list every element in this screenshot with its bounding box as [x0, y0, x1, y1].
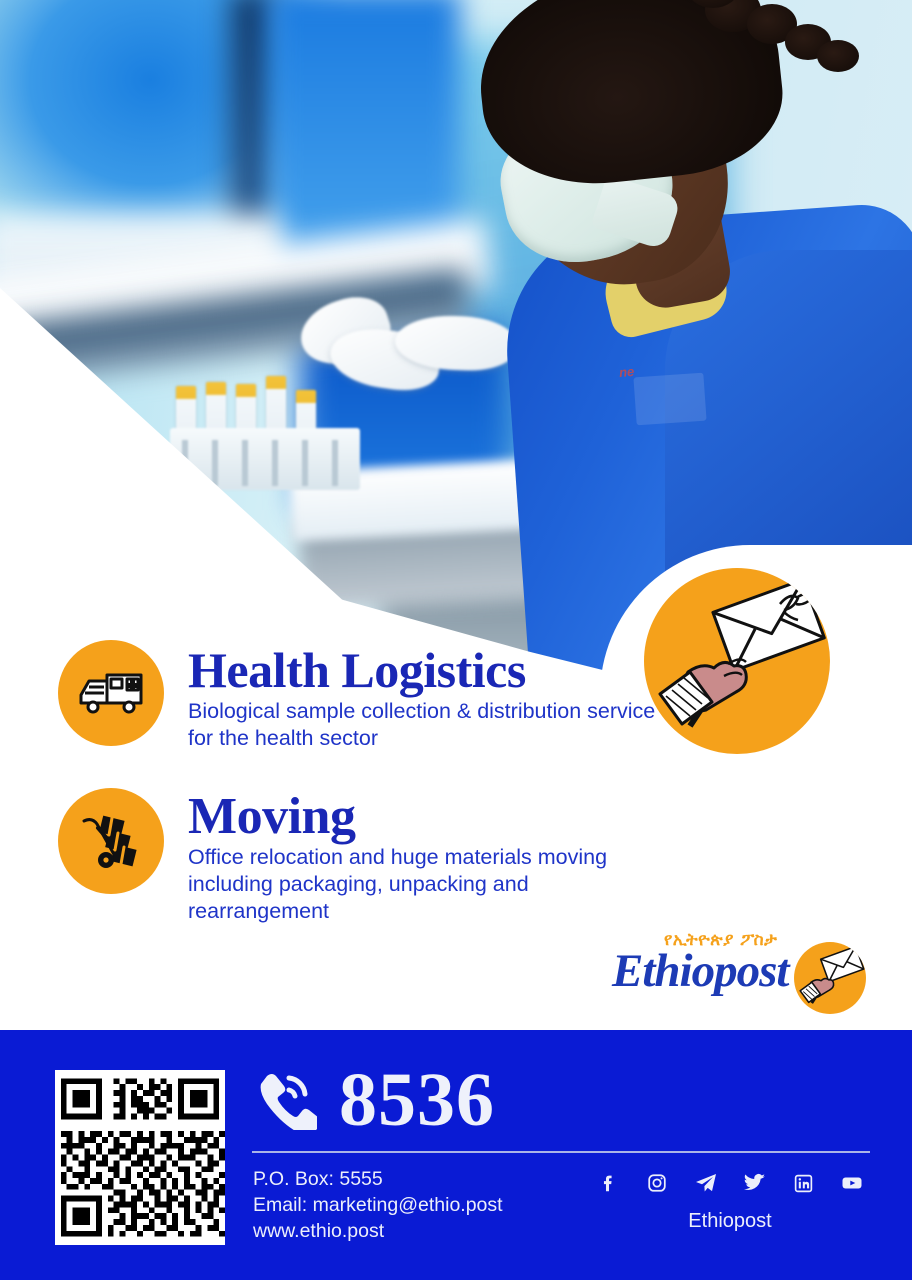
- hand-truck-icon: [58, 788, 164, 894]
- brand-mark-artwork: [794, 942, 866, 1014]
- linkedin-icon[interactable]: [790, 1170, 816, 1196]
- ethiopost-logo: የኢትዮጵያ ፖስታ Ethiopost: [612, 930, 867, 1016]
- facebook-icon[interactable]: [595, 1170, 621, 1196]
- service-title: Health Logistics: [188, 644, 658, 696]
- hand-truck-glyph: [80, 812, 142, 870]
- twitter-icon[interactable]: [741, 1170, 767, 1196]
- youtube-icon[interactable]: [839, 1170, 865, 1196]
- ambulance-glyph: [77, 667, 145, 719]
- email[interactable]: Email: marketing@ethio.post: [253, 1192, 503, 1218]
- telegram-icon[interactable]: [693, 1170, 719, 1196]
- instagram-icon[interactable]: [644, 1170, 670, 1196]
- qr-code[interactable]: [55, 1070, 225, 1245]
- instagram-glyph: [646, 1172, 668, 1194]
- footer-divider: [252, 1151, 870, 1153]
- youtube-glyph: [840, 1171, 864, 1195]
- telegram-glyph: [694, 1171, 718, 1195]
- hand-holding-envelope-icon: [794, 942, 866, 1014]
- service-text-health-logistics: Health Logistics Biological sample colle…: [188, 640, 658, 752]
- po-box: P.O. Box: 5555: [253, 1166, 503, 1192]
- scrubs-logo: ne: [619, 363, 668, 401]
- phone-call-icon: [253, 1066, 317, 1135]
- services-list: Health Logistics Biological sample colle…: [0, 640, 912, 953]
- brand-wordmark: Ethiopost: [612, 944, 788, 998]
- social-links: [595, 1170, 865, 1196]
- contact-block: P.O. Box: 5555 Email: marketing@ethio.po…: [253, 1166, 503, 1244]
- website[interactable]: www.ethio.post: [253, 1218, 503, 1244]
- phone-call-glyph: [253, 1066, 317, 1130]
- service-item-moving: Moving Office relocation and huge materi…: [0, 788, 912, 925]
- phone-number: 8536: [339, 1062, 495, 1138]
- facebook-glyph: [597, 1172, 619, 1194]
- service-text-moving: Moving Office relocation and huge materi…: [188, 788, 638, 925]
- service-description: Biological sample collection & distribut…: [188, 698, 658, 752]
- phone-row[interactable]: 8536: [253, 1062, 495, 1138]
- linkedin-glyph: [793, 1173, 814, 1194]
- ambulance-icon: [58, 640, 164, 746]
- service-title: Moving: [188, 792, 638, 842]
- service-item-health-logistics: Health Logistics Biological sample colle…: [0, 640, 912, 752]
- social-handle: Ethiopost: [595, 1210, 865, 1233]
- qr-code-glyph: [55, 1070, 225, 1245]
- poster-root: ne: [0, 0, 912, 1280]
- service-description: Office relocation and huge materials mov…: [188, 844, 638, 925]
- twitter-glyph: [742, 1171, 766, 1195]
